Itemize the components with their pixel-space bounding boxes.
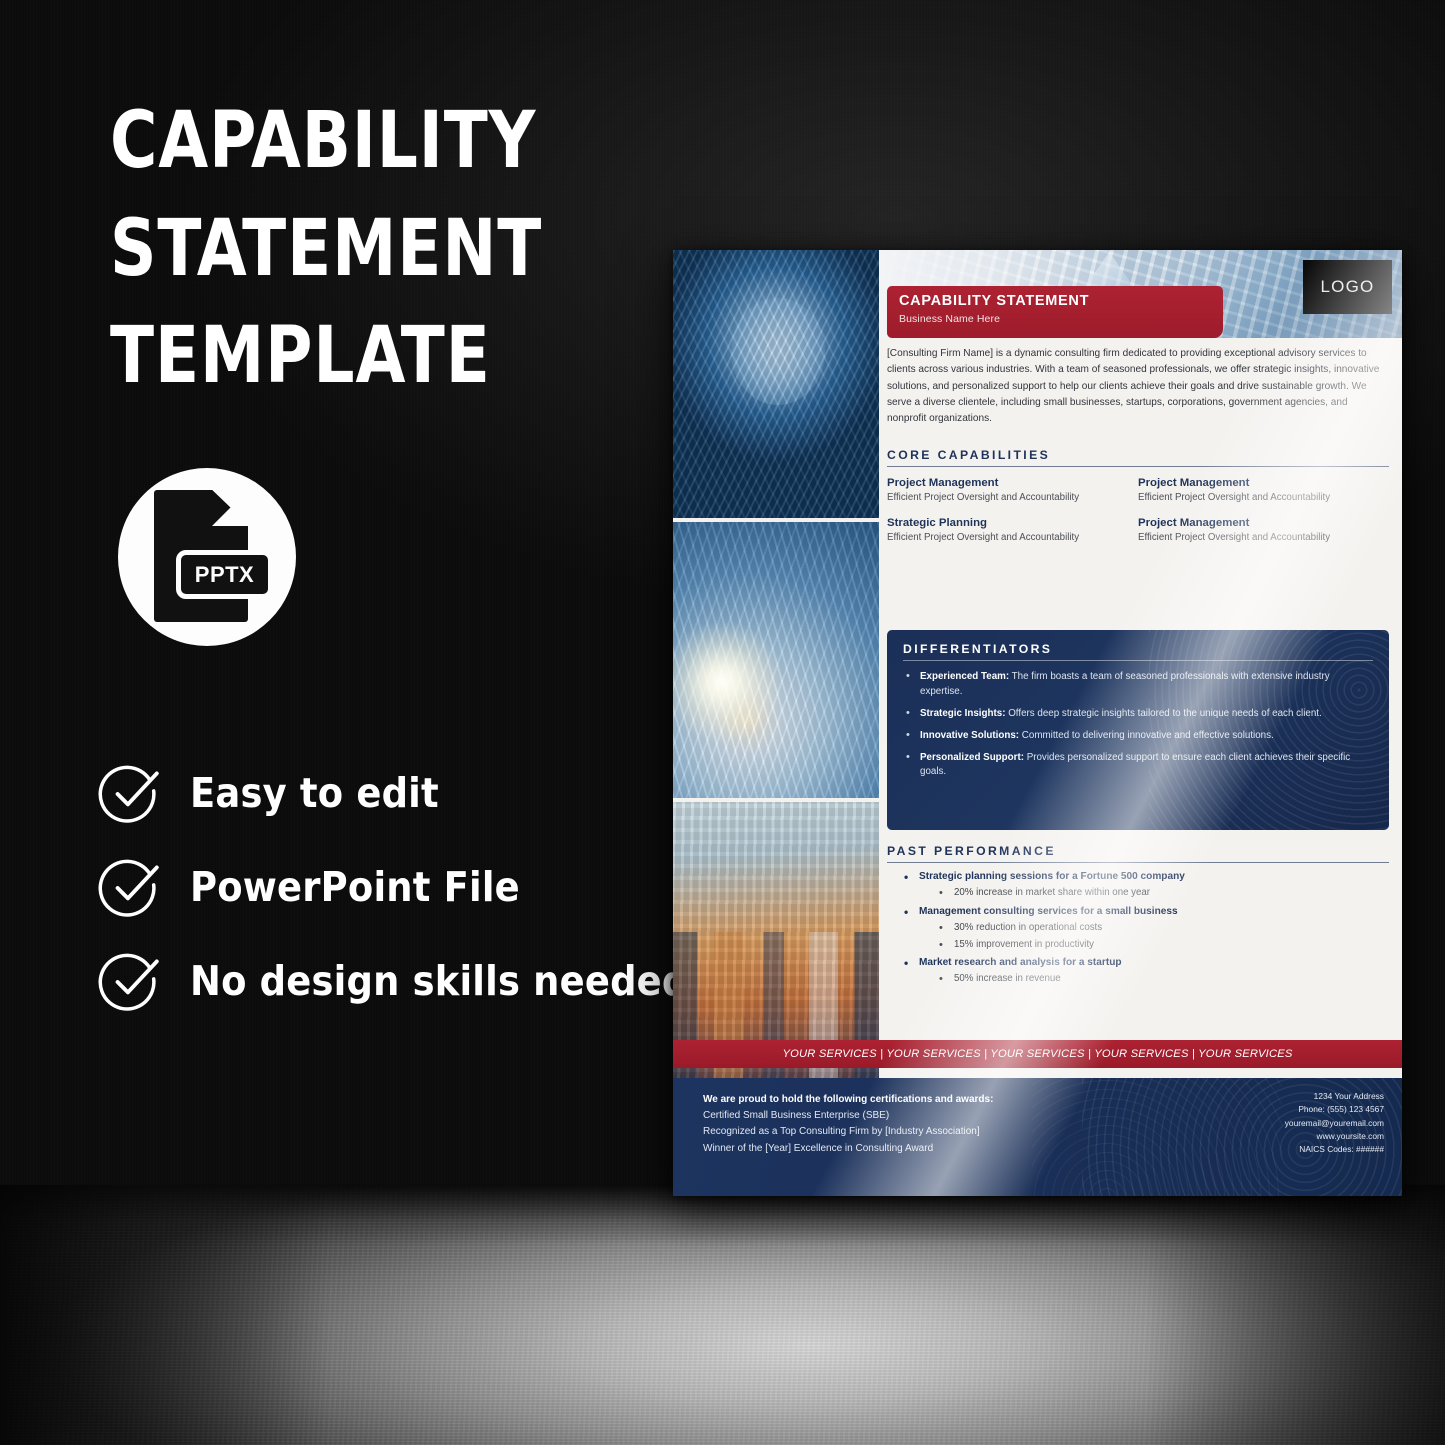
concrete-floor-background (0, 1185, 1445, 1445)
list-item: Strategic planning sessions for a Fortun… (887, 869, 1389, 884)
feature-label: No design skills needed (190, 957, 689, 1005)
feature-item-powerpoint-file: PowerPoint File (98, 840, 658, 934)
feature-label: Easy to edit (190, 769, 439, 817)
promo-title: CAPABILITY STATEMENT TEMPLATE (110, 88, 625, 411)
differentiator-label: Innovative Solutions: (920, 730, 1019, 741)
promo-panel: CAPABILITY STATEMENT TEMPLATE PPTX Easy … (0, 0, 672, 1200)
contact-block: 1234 Your Address Phone: (555) 123 4567 … (1285, 1090, 1384, 1156)
differentiator-text: Offers deep strategic insights tailored … (1005, 708, 1321, 719)
check-circle-icon (98, 760, 164, 826)
list-item: Strategic Insights: Offers deep strategi… (903, 707, 1373, 721)
capability-heading: Project Management (1138, 477, 1379, 489)
services-band-text: YOUR SERVICES | YOUR SERVICES | YOUR SER… (782, 1048, 1292, 1060)
capability-body: Efficient Project Oversight and Accounta… (1138, 491, 1379, 505)
differentiator-label: Experienced Team: (920, 671, 1009, 682)
feature-label: PowerPoint File (190, 863, 520, 911)
section-divider (887, 466, 1389, 467)
list-subitem: 15% improvement in productivity (887, 938, 1389, 953)
sun-flare (673, 622, 782, 742)
list-subitem: 50% increase in revenue (887, 972, 1389, 987)
contact-phone: Phone: (555) 123 4567 (1285, 1103, 1384, 1116)
capability-body: Efficient Project Oversight and Accounta… (1138, 531, 1379, 545)
logo-placeholder[interactable]: LOGO (1303, 260, 1392, 314)
section-heading: PAST PERFORMANCE (887, 844, 1389, 862)
capability-heading: Strategic Planning (887, 517, 1128, 529)
business-name: Business Name Here (899, 313, 1223, 325)
differentiators-list: Experienced Team: The firm boasts a team… (903, 670, 1373, 779)
certification-line: Recognized as a Top Consulting Firm by [… (703, 1124, 1123, 1140)
certifications-block: We are proud to hold the following certi… (703, 1092, 1123, 1157)
contact-website: www.yoursite.com (1285, 1130, 1384, 1143)
capability-heading: Project Management (887, 477, 1128, 489)
list-subitem: 20% increase in market share within one … (887, 886, 1389, 901)
certifications-heading: We are proud to hold the following certi… (703, 1092, 1123, 1108)
list-item: Management consulting services for a sma… (887, 904, 1389, 919)
core-column-left: Project Management Efficient Project Ove… (887, 477, 1138, 557)
check-circle-icon (98, 854, 164, 920)
document-footer: We are proud to hold the following certi… (673, 1078, 1402, 1196)
list-item: Innovative Solutions: Committed to deliv… (903, 729, 1373, 743)
logo-label: LOGO (1321, 277, 1375, 297)
photo-glass-towers-sunburst (673, 522, 879, 798)
certification-line: Certified Small Business Enterprise (SBE… (703, 1108, 1123, 1124)
core-column-right: Project Management Efficient Project Ove… (1138, 477, 1389, 557)
floor-right-vignette (1145, 1185, 1445, 1445)
page-title: CAPABILITY STATEMENT (899, 293, 1223, 309)
section-divider (903, 660, 1373, 661)
feature-list: Easy to edit PowerPoint File No design s… (98, 746, 658, 1028)
certification-line: Winner of the [Year] Excellence in Consu… (703, 1141, 1123, 1157)
pptx-label-badge: PPTX (176, 550, 273, 599)
capability-body: Efficient Project Oversight and Accounta… (887, 531, 1128, 545)
core-capabilities-section: CORE CAPABILITIES Project Management Eff… (887, 448, 1389, 557)
check-circle-icon (98, 948, 164, 1014)
differentiators-inner: DIFFERENTIATORS Experienced Team: The fi… (903, 642, 1373, 788)
section-heading: CORE CAPABILITIES (887, 448, 1389, 466)
capability-statement-document[interactable]: CAPABILITY STATEMENT Business Name Here … (673, 250, 1402, 1196)
services-band: YOUR SERVICES | YOUR SERVICES | YOUR SER… (673, 1040, 1402, 1068)
contact-naics: NAICS Codes: ###### (1285, 1143, 1384, 1156)
photo-skyscrapers-upward (673, 250, 879, 518)
pptx-label-text: PPTX (195, 562, 254, 588)
past-performance-section: PAST PERFORMANCE Strategic planning sess… (887, 844, 1389, 987)
differentiators-section: DIFFERENTIATORS Experienced Team: The fi… (887, 630, 1389, 830)
building-facade-texture (673, 250, 879, 518)
feature-item-no-design-skills: No design skills needed (98, 934, 658, 1028)
capability-body: Efficient Project Oversight and Accounta… (887, 491, 1128, 505)
list-item: Experienced Team: The firm boasts a team… (903, 670, 1373, 698)
list-subitem: 30% reduction in operational costs (887, 921, 1389, 936)
section-divider (887, 862, 1389, 863)
floor-left-vignette (0, 1185, 330, 1445)
contact-address: 1234 Your Address (1285, 1090, 1384, 1103)
contact-email: youremail@youremail.com (1285, 1117, 1384, 1130)
pptx-file-icon: PPTX (118, 468, 296, 646)
past-performance-list: Strategic planning sessions for a Fortun… (887, 869, 1389, 987)
intro-paragraph: [Consulting Firm Name] is a dynamic cons… (887, 346, 1387, 428)
feature-item-easy-to-edit: Easy to edit (98, 746, 658, 840)
section-heading: DIFFERENTIATORS (903, 642, 1373, 660)
document-header-banner: CAPABILITY STATEMENT Business Name Here (887, 286, 1223, 338)
list-item: Personalized Support: Provides personali… (903, 751, 1373, 779)
differentiator-label: Strategic Insights: (920, 708, 1005, 719)
differentiator-label: Personalized Support: (920, 752, 1024, 763)
list-item: Market research and analysis for a start… (887, 955, 1389, 970)
capability-heading: Project Management (1138, 517, 1379, 529)
core-capabilities-columns: Project Management Efficient Project Ove… (887, 477, 1389, 557)
differentiator-text: Committed to delivering innovative and e… (1019, 730, 1274, 741)
